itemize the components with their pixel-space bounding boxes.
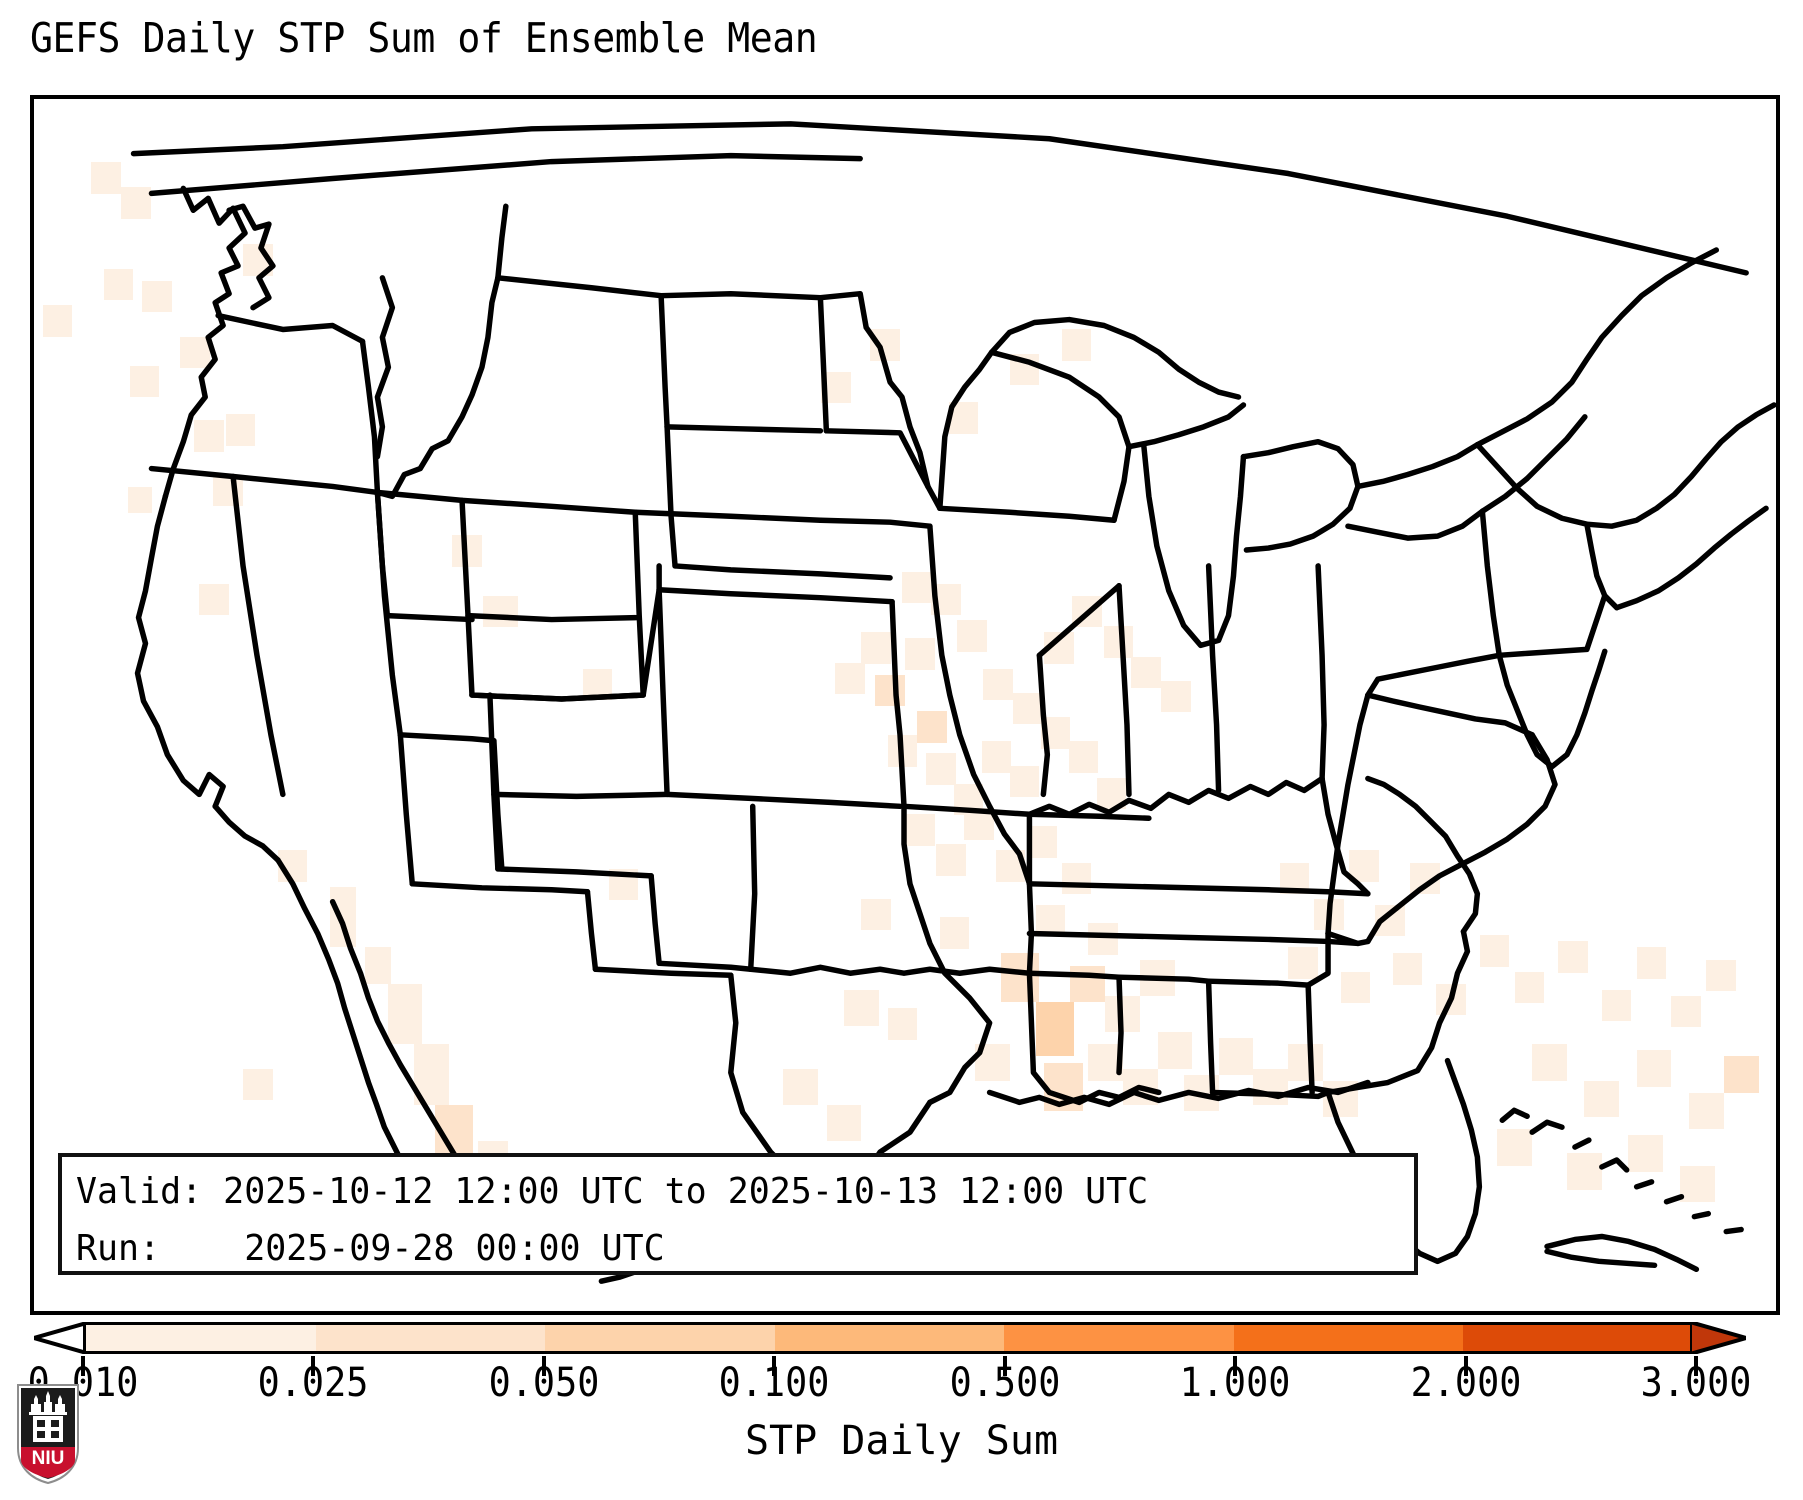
colorbar-tick-labels: 0.0100.0250.0500.1000.5001.0002.0003.000 <box>0 1360 1803 1414</box>
colorbar-segment-3 <box>775 1325 1005 1351</box>
colorbar-tick-label-1: 0.025 <box>258 1360 369 1406</box>
colorbar-segment-5 <box>1234 1325 1464 1351</box>
colorbar-row <box>0 1318 1803 1360</box>
colorbar-gradient <box>83 1322 1696 1354</box>
colorbar-segment-2 <box>545 1325 775 1351</box>
colorbar-tick-label-2: 0.050 <box>488 1360 599 1406</box>
colorbar-tick-label-7: 3.000 <box>1641 1360 1752 1406</box>
colorbar-tick-label-4: 0.500 <box>949 1360 1060 1406</box>
colorbar-segment-0 <box>86 1325 316 1351</box>
colorbar-segment-1 <box>316 1325 546 1351</box>
colorbar-segment-4 <box>1004 1325 1234 1351</box>
colorbar-under-arrow <box>34 1322 90 1354</box>
colorbar-tick-label-6: 2.000 <box>1410 1360 1521 1406</box>
valid-time-line: Valid: 2025-10-12 12:00 UTC to 2025-10-1… <box>76 1163 1360 1220</box>
map-geography <box>34 99 1776 1311</box>
colorbar-axis-label: STP Daily Sum <box>0 1418 1803 1464</box>
niu-logo-text: NIU <box>32 1448 65 1469</box>
colorbar-segment-6 <box>1463 1325 1693 1351</box>
colorbar-tick-label-5: 1.000 <box>1180 1360 1291 1406</box>
colorbar-tick-label-3: 0.100 <box>719 1360 830 1406</box>
colorbar-over-arrow <box>1690 1322 1746 1354</box>
page-title: GEFS Daily STP Sum of Ensemble Mean <box>30 14 817 62</box>
niu-shield-logo: NIU <box>14 1382 82 1486</box>
run-time-line: Run: 2025-09-28 00:00 UTC <box>76 1220 1360 1277</box>
map-plot-area[interactable] <box>30 95 1780 1315</box>
forecast-info-box: Valid: 2025-10-12 12:00 UTC to 2025-10-1… <box>58 1153 1418 1275</box>
